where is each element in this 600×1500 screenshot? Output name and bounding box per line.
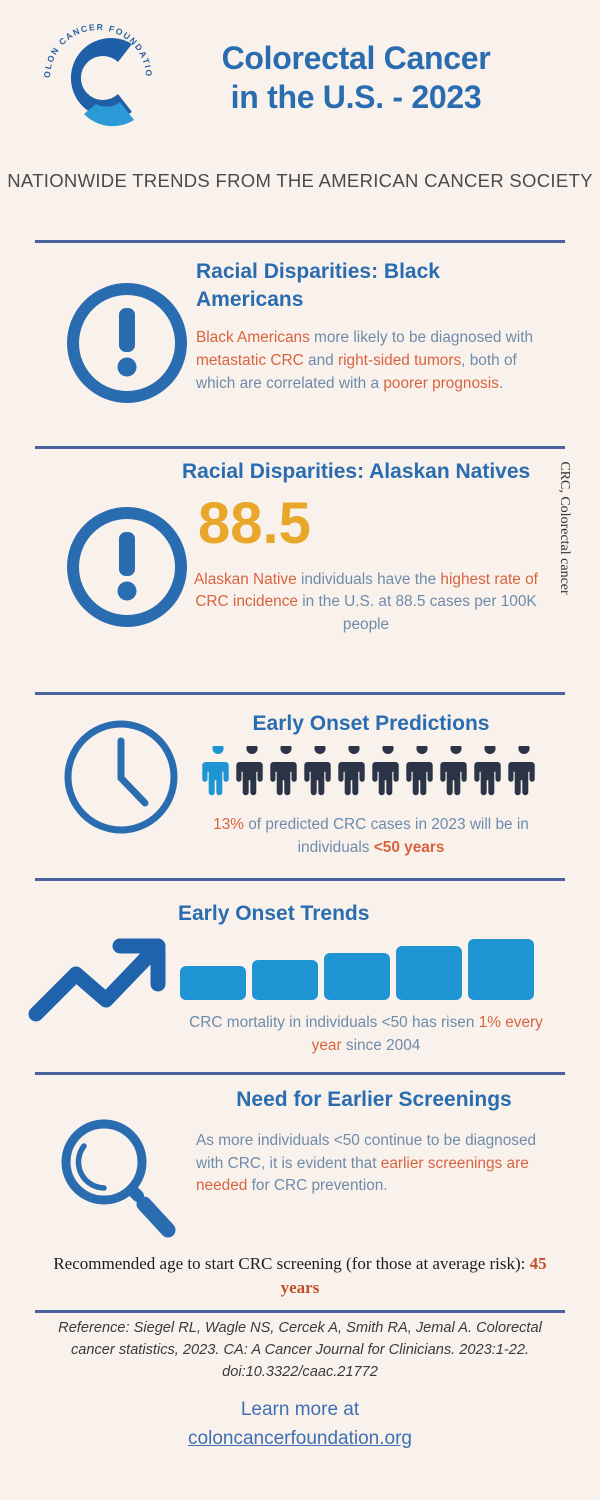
bar-4 bbox=[396, 946, 462, 1000]
infographic-page: COLON CANCER FOUNDATION Colorectal Cance… bbox=[0, 0, 600, 1500]
person-icon bbox=[304, 746, 336, 808]
text-run: . bbox=[499, 375, 503, 392]
section-3-title: Early Onset Predictions bbox=[190, 710, 552, 738]
person-icon bbox=[236, 746, 268, 808]
text-run: and bbox=[304, 352, 338, 369]
page-title-line1: Colorectal Cancer bbox=[168, 39, 544, 78]
section-racial-disparities-alaskan-natives: Racial Disparities: Alaskan Natives 88.5… bbox=[0, 452, 600, 690]
svg-text:COLON CANCER FOUNDATION: COLON CANCER FOUNDATION bbox=[28, 8, 154, 78]
text-run: CRC mortality in individuals <50 has ris… bbox=[189, 1014, 479, 1031]
person-icon bbox=[508, 746, 540, 808]
text-run: Alaskan Native bbox=[194, 571, 297, 588]
section-2-title: Racial Disparities: Alaskan Natives bbox=[182, 458, 550, 486]
pictogram-people-row bbox=[190, 742, 552, 808]
bar-chart-ascending bbox=[178, 938, 554, 1000]
recommendation-note: Recommended age to start CRC screening (… bbox=[40, 1252, 560, 1300]
section-racial-disparities-black-americans: Racial Disparities: Black Americans Blac… bbox=[0, 248, 600, 444]
section-early-onset-trends: Early Onset Trends CRC mortality in indi… bbox=[0, 884, 600, 1070]
trend-up-arrow-icon bbox=[28, 932, 176, 1022]
text-run: poorer prognosis bbox=[383, 375, 499, 392]
recommendation-lead: Recommended age to start CRC screening (… bbox=[53, 1254, 529, 1273]
exclamation-circle-icon bbox=[62, 278, 192, 408]
text-run: 13% bbox=[213, 816, 244, 833]
section-5-title: Need for Earlier Screenings bbox=[196, 1086, 552, 1114]
person-icon bbox=[406, 746, 438, 808]
text-run: metastatic CRC bbox=[196, 352, 304, 369]
website-link[interactable]: coloncancerfoundation.org bbox=[0, 1425, 600, 1454]
text-run: more likely to be diagnosed with bbox=[310, 329, 533, 346]
side-vertical-note: CRC, Colorectal cancer bbox=[556, 448, 572, 608]
clock-icon bbox=[60, 716, 182, 838]
divider-3 bbox=[35, 692, 565, 695]
text-run: right-sided tumors bbox=[338, 352, 461, 369]
divider-5 bbox=[35, 1072, 565, 1075]
bar-5 bbox=[468, 939, 534, 1000]
magnifying-glass-icon bbox=[52, 1112, 182, 1242]
colon-cancer-foundation-logo: COLON CANCER FOUNDATION bbox=[28, 8, 168, 148]
divider-6 bbox=[35, 1310, 565, 1313]
section-2-body: Racial Disparities: Alaskan Natives 88.5… bbox=[182, 458, 550, 637]
section-3-body: Early Onset Predictions 13% of predicted… bbox=[190, 710, 552, 859]
text-run: Black Americans bbox=[196, 329, 310, 346]
person-icon bbox=[202, 746, 234, 808]
header: COLON CANCER FOUNDATION Colorectal Cance… bbox=[0, 8, 600, 148]
section-4-body: Early Onset Trends CRC mortality in indi… bbox=[178, 900, 554, 1057]
person-icon bbox=[372, 746, 404, 808]
statistic-value-88-5: 88.5 bbox=[198, 494, 550, 555]
divider-4 bbox=[35, 878, 565, 881]
section-1-text: Black Americans more likely to be diagno… bbox=[196, 327, 552, 395]
bar-2 bbox=[252, 960, 318, 1000]
section-5-text: As more individuals <50 continue to be d… bbox=[196, 1130, 552, 1198]
section-3-text: 13% of predicted CRC cases in 2023 will … bbox=[190, 814, 552, 860]
exclamation-circle-icon bbox=[62, 502, 192, 632]
title-block: Colorectal Cancer in the U.S. - 2023 bbox=[168, 39, 600, 117]
page-title-line2: in the U.S. - 2023 bbox=[168, 78, 544, 117]
section-2-text: Alaskan Native individuals have the high… bbox=[182, 569, 550, 637]
bar-3 bbox=[324, 953, 390, 1000]
section-4-title: Early Onset Trends bbox=[178, 900, 554, 928]
section-4-text: CRC mortality in individuals <50 has ris… bbox=[178, 1012, 554, 1058]
text-run: individuals have the bbox=[297, 571, 441, 588]
text-run: <50 years bbox=[374, 839, 445, 856]
logo-circular-text: COLON CANCER FOUNDATION bbox=[28, 8, 154, 78]
person-icon bbox=[270, 746, 302, 808]
divider-2 bbox=[35, 446, 565, 449]
text-run: in the U.S. at 88.5 cases per 100K peopl… bbox=[298, 593, 537, 633]
divider-1 bbox=[35, 240, 565, 243]
bar-1 bbox=[180, 966, 246, 1000]
person-icon bbox=[474, 746, 506, 808]
reference-citation: Reference: Siegel RL, Wagle NS, Cercek A… bbox=[40, 1318, 560, 1384]
person-icon bbox=[338, 746, 370, 808]
section-early-onset-predictions: Early Onset Predictions 13% of predicted… bbox=[0, 698, 600, 876]
learn-more-block: Learn more at coloncancerfoundation.org bbox=[0, 1396, 600, 1453]
section-1-title: Racial Disparities: Black Americans bbox=[196, 258, 552, 313]
subtitle: NATIONWIDE TRENDS FROM THE AMERICAN CANC… bbox=[0, 168, 600, 195]
text-run: for CRC prevention. bbox=[247, 1177, 387, 1194]
logo-mark-icon: COLON CANCER FOUNDATION bbox=[28, 8, 168, 148]
learn-more-label: Learn more at bbox=[241, 1399, 359, 1420]
text-run: since 2004 bbox=[342, 1037, 421, 1054]
person-icon bbox=[440, 746, 472, 808]
section-5-body: Need for Earlier Screenings As more indi… bbox=[196, 1086, 552, 1198]
section-1-body: Racial Disparities: Black Americans Blac… bbox=[196, 258, 552, 396]
